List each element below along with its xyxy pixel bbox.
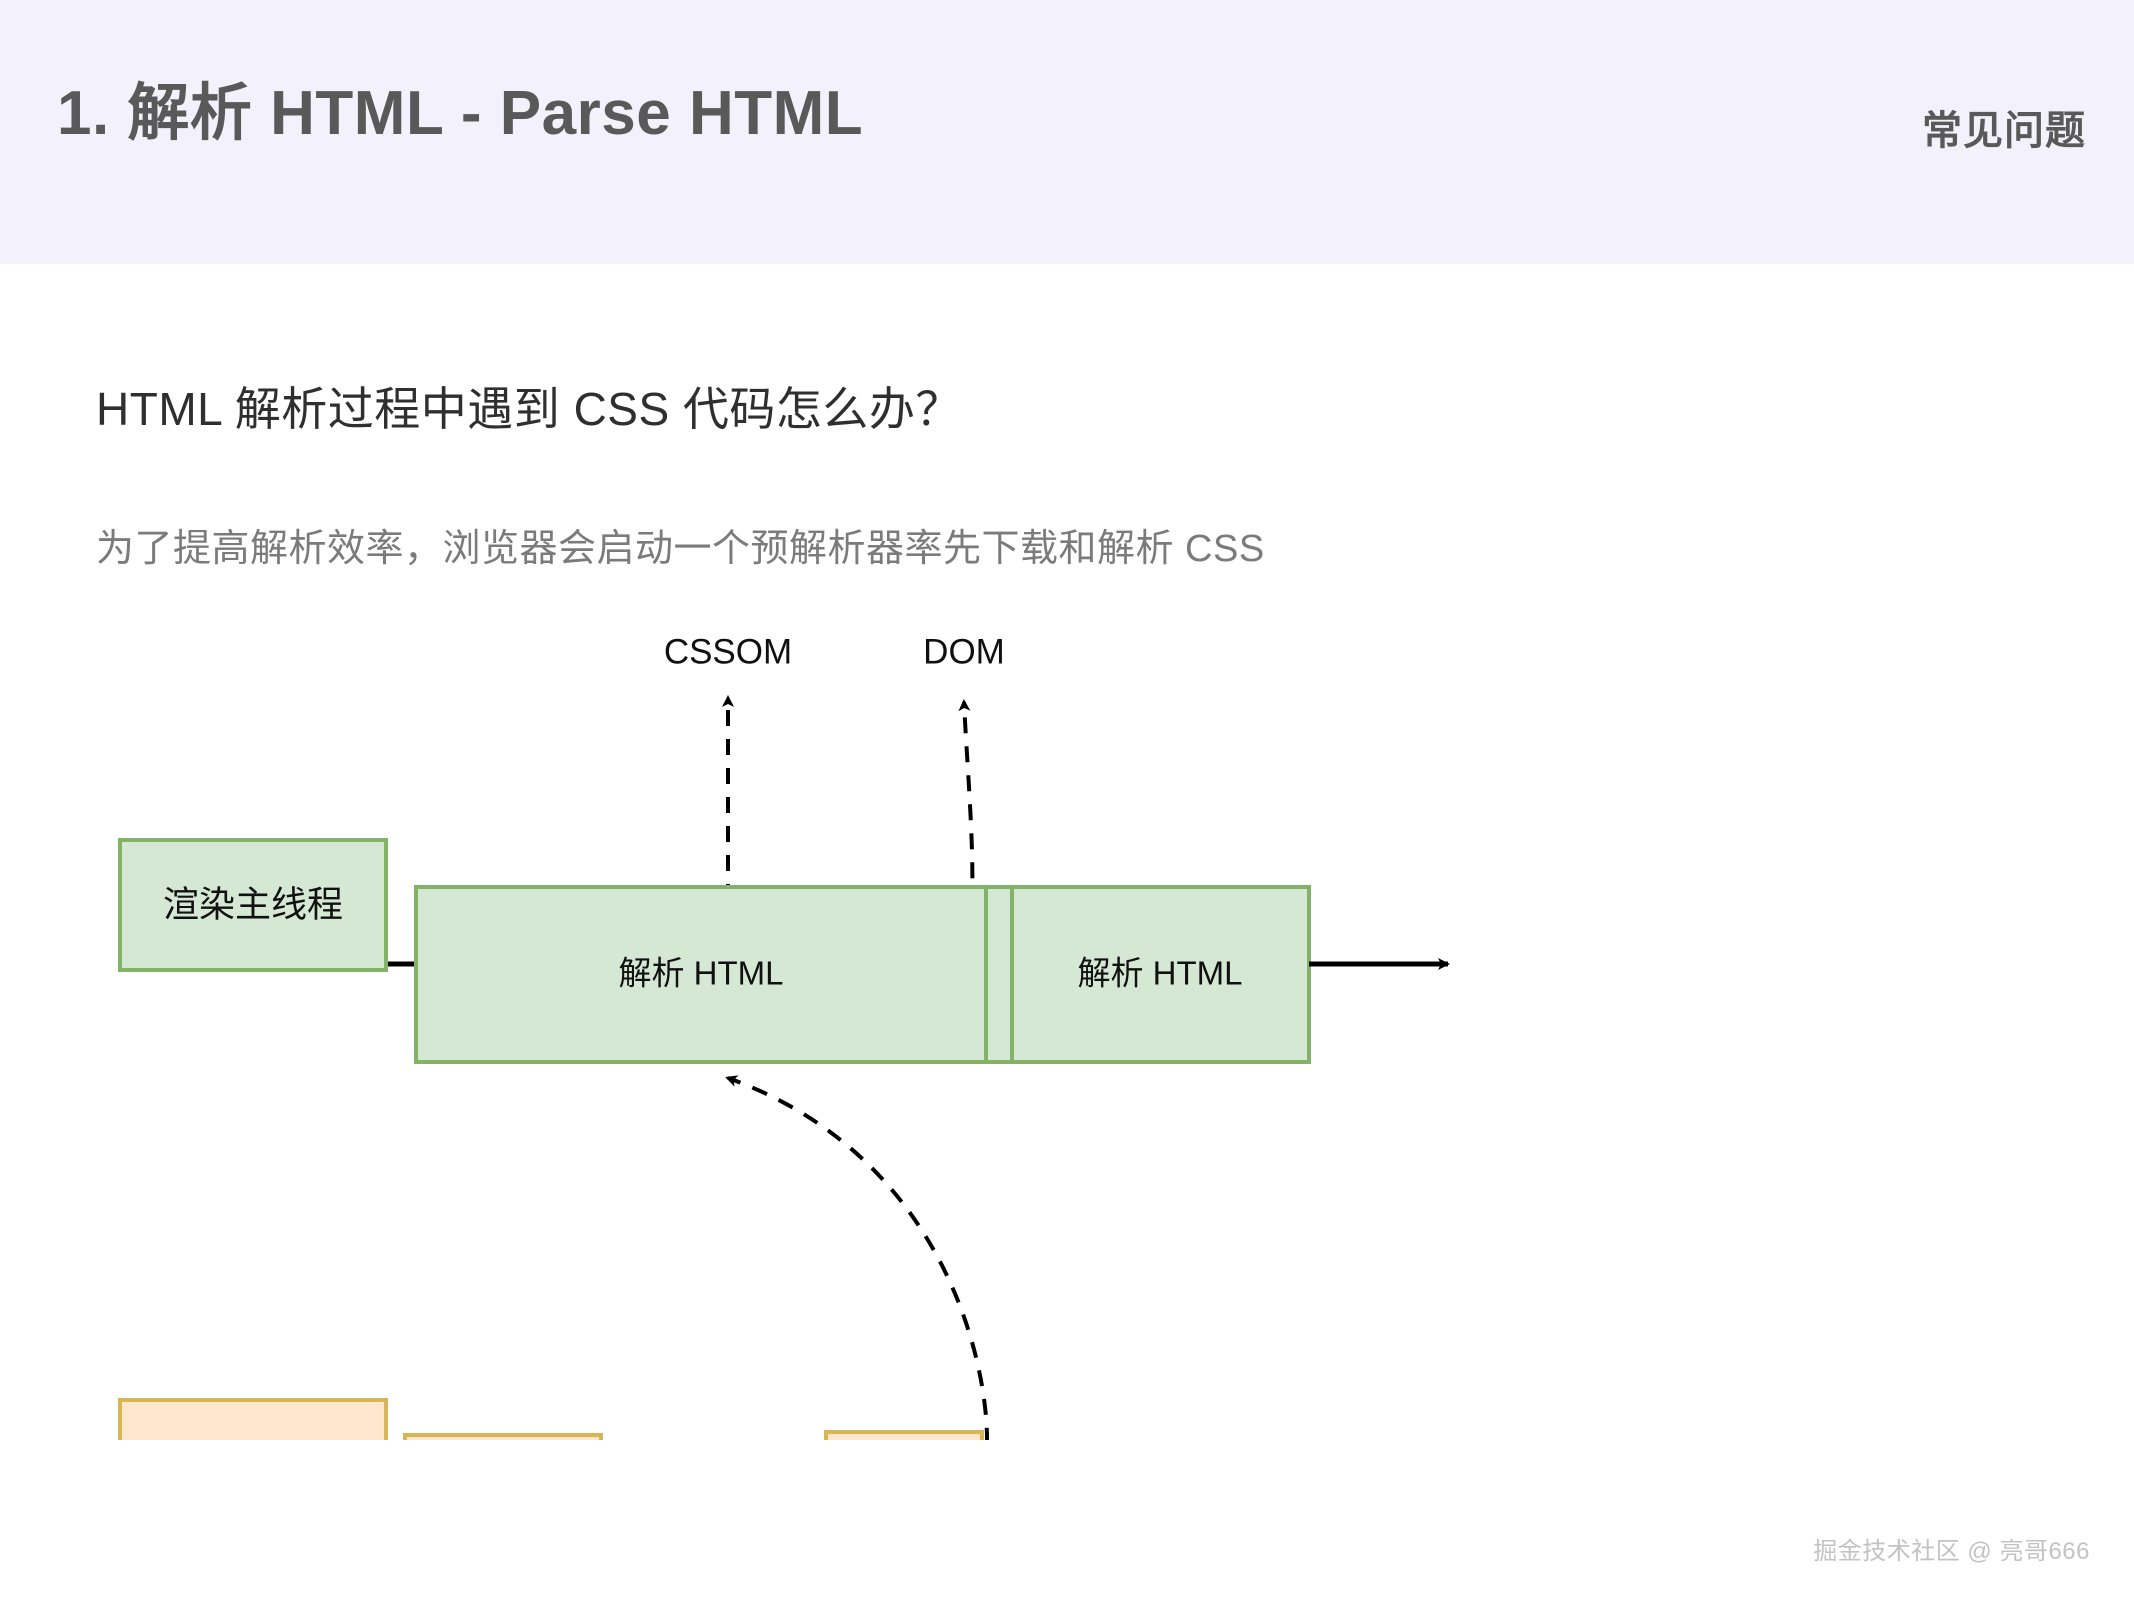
footer-watermark: 掘金技术社区 @ 亮哥666 — [1813, 1531, 2090, 1566]
lane-label-box-pre-parse-thread — [120, 1400, 386, 1440]
task-label-parse-html-1: 解析 HTML — [619, 955, 784, 992]
lane-render-main-thread: 渲染主线程 解析 HTML 解析 HTML — [120, 840, 1448, 1062]
arrow-parse-to-main-thread — [728, 1078, 987, 1440]
page-title: 1. 解析 HTML - Parse HTML — [57, 78, 863, 149]
header-category-tag: 常见问题 — [1922, 98, 2086, 156]
answer-text: 为了提高解析效率，浏览器会启动一个预解析器率先下载和解析 CSS — [96, 517, 1265, 572]
lane-pre-parse-thread: 预解析线程 快速浏览 解析 — [120, 1400, 1448, 1440]
output-label-cssom: CSSOM — [664, 632, 792, 671]
timeline-diagram: CSSOM DOM 渲染主线程 解析 HTML 解析 HTML 预解析线程 快速… — [0, 610, 1550, 1440]
task-box-parse-css — [826, 1432, 982, 1440]
task-box-parse-gap — [986, 887, 1012, 1062]
lane-label-render-main-thread: 渲染主线程 — [163, 884, 343, 925]
task-box-quick-scan — [405, 1435, 601, 1440]
task-label-parse-html-2: 解析 HTML — [1078, 955, 1243, 992]
question-text: HTML 解析过程中遇到 CSS 代码怎么办？ — [96, 373, 962, 439]
output-label-dom: DOM — [923, 632, 1005, 671]
slide-header-band: 1. 解析 HTML - Parse HTML 常见问题 — [0, 0, 2134, 264]
